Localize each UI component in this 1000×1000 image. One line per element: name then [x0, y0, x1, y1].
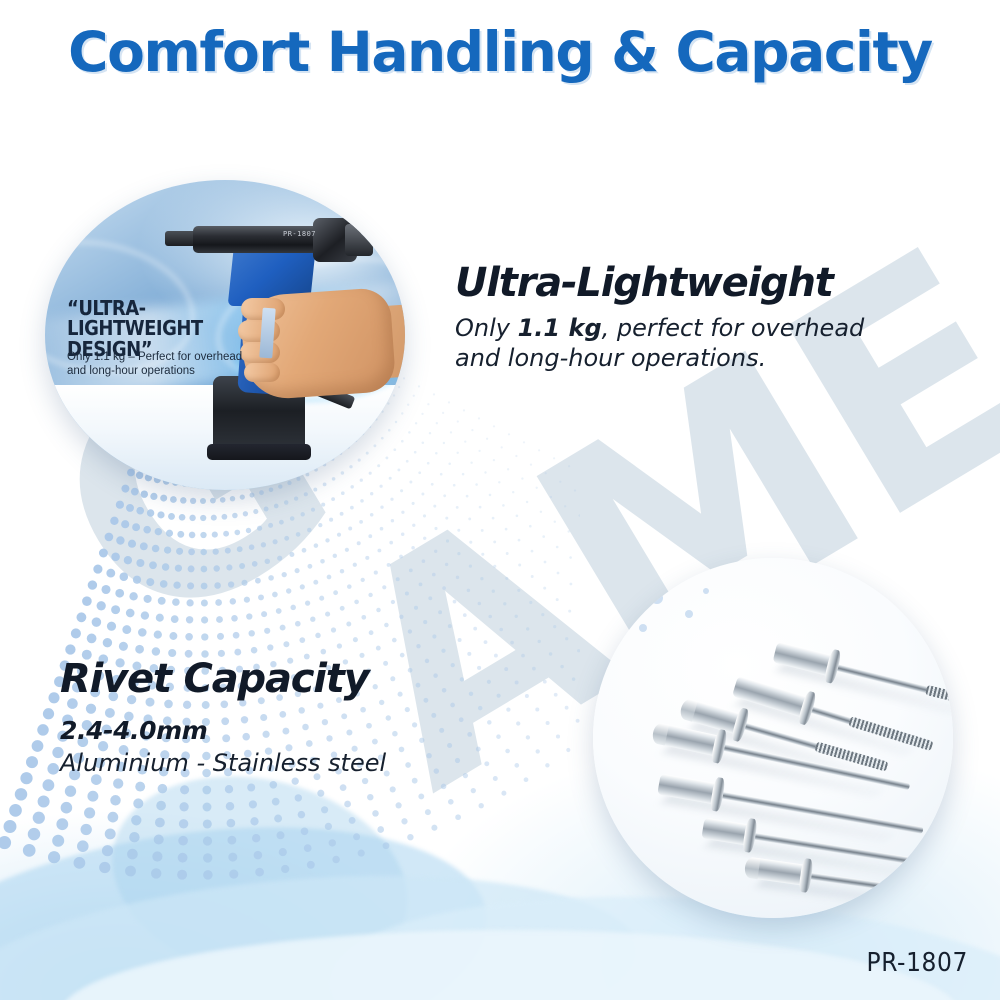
halftone-dot-overlay-4 [607, 612, 617, 622]
halftone-dot-overlay-1 [599, 576, 617, 594]
feature-heading-rivet-capacity: Rivet Capacity [60, 658, 520, 700]
tool-photo-circle: PR-1807 “ULTRA-LIGHTWEIGHT DESIGN” Only … [45, 180, 405, 490]
tool-overlay-subtext-line-2: and long-hour operations [67, 364, 267, 378]
feature-body-ultra-lightweight: Only 1.1 kg, perfect for overhead and lo… [455, 313, 915, 373]
bottom-wave-4 [60, 930, 960, 1000]
feature-body-prefix: Only [455, 314, 518, 342]
halftone-dot-overlay-7 [685, 610, 693, 618]
feature-rivet-size-range: 2.4-4.0mm [60, 716, 520, 745]
halftone-dot-overlay-3 [651, 592, 663, 604]
feature-body-weight-value: 1.1 kg [518, 314, 602, 342]
halftone-dot-overlay-2 [627, 564, 641, 578]
gun-body-code: PR-1807 [283, 230, 316, 238]
halftone-dot-overlay-6 [673, 570, 683, 580]
feature-rivet-materials: Aluminium - Stainless steel [60, 749, 520, 777]
infographic-canvas: G AME Comfort Handling & Capacity PR-180… [0, 0, 1000, 1000]
bottom-wave-5 [90, 747, 429, 1000]
feature-block-rivet-capacity: Rivet Capacity 2.4-4.0mm Aluminium - Sta… [60, 658, 520, 777]
halftone-dot-overlay-8 [703, 588, 709, 594]
page-title: Comfort Handling & Capacity [0, 20, 1000, 84]
tool-overlay-subtext: Only 1.1 kg – Perfect for overhead and l… [67, 350, 267, 379]
feature-heading-ultra-lightweight: Ultra-Lightweight [455, 262, 915, 304]
bottom-wave-2 [0, 850, 647, 1000]
gun-rear-cap [345, 224, 373, 256]
rivet-photo-circle [593, 558, 953, 918]
halftone-dot-overlay-5 [639, 624, 647, 632]
feature-block-ultra-lightweight: Ultra-Lightweight Only 1.1 kg, perfect f… [455, 262, 915, 373]
tool-overlay-subtext-line-1: Only 1.1 kg – Perfect for overhead [67, 350, 267, 364]
product-code-label: PR-1807 [867, 948, 968, 978]
bottom-wave-1 [0, 788, 506, 1000]
